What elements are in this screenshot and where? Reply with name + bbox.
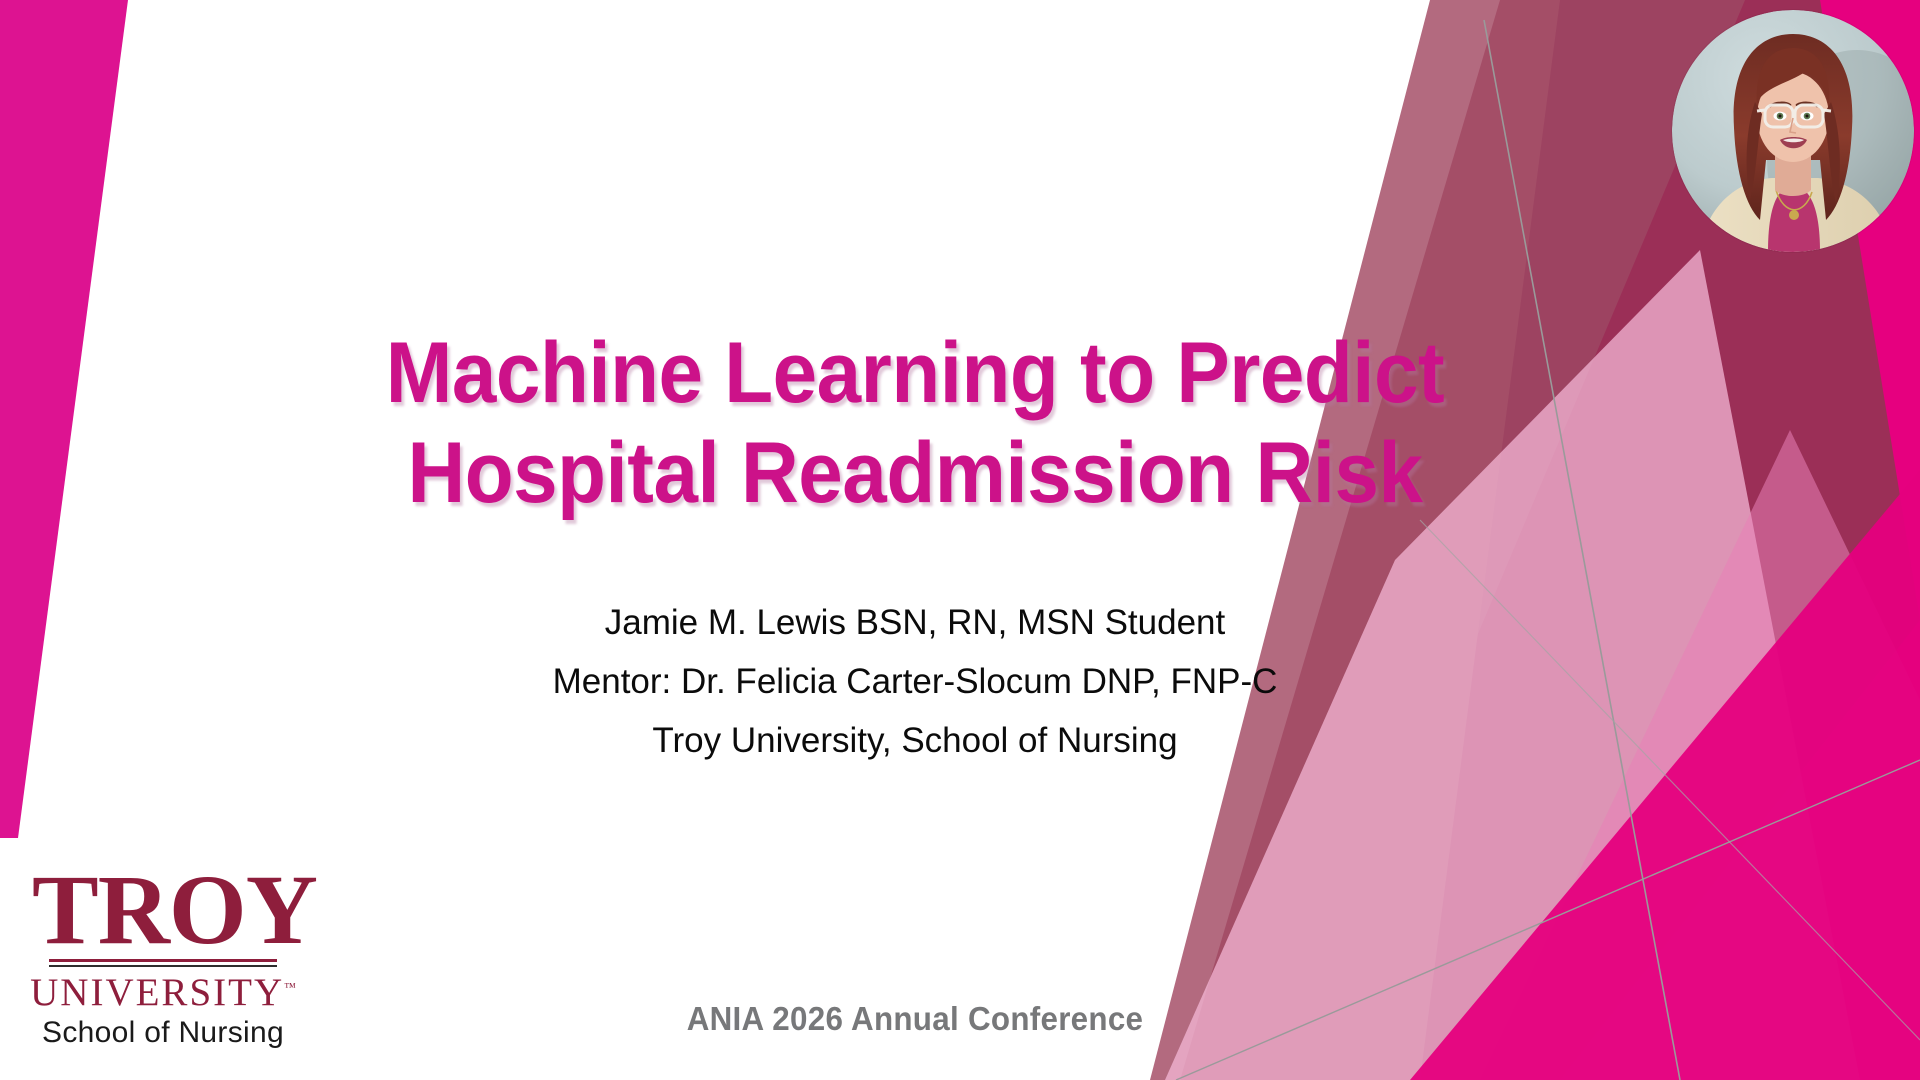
pupil-right bbox=[1806, 115, 1809, 118]
trademark-symbol: ™ bbox=[284, 980, 296, 994]
conference-footer: ANIA 2026 Annual Conference bbox=[236, 1000, 1595, 1038]
troy-university-logo: TROY UNIVERSITY™ School of Nursing bbox=[28, 862, 298, 1047]
troy-logo-wordmark: TROY bbox=[28, 862, 298, 957]
title-line-1: Machine Learning to Predict bbox=[250, 330, 1580, 416]
troy-logo-department: School of Nursing bbox=[28, 1016, 298, 1050]
troy-logo-university: UNIVERSITY™ bbox=[28, 970, 298, 1015]
necklace-pendant bbox=[1789, 210, 1799, 220]
pupil-left bbox=[1779, 115, 1782, 118]
author-block: Jamie M. Lewis BSN, RN, MSN Student Ment… bbox=[200, 605, 1630, 782]
hairline-diagonal-1 bbox=[1484, 20, 1680, 1080]
mentor-line: Mentor: Dr. Felicia Carter-Slocum DNP, F… bbox=[200, 664, 1630, 699]
title-slide: Machine Learning to Predict Hospital Rea… bbox=[0, 0, 1920, 1080]
presenter-webcam-bubble[interactable] bbox=[1672, 10, 1914, 252]
author-name-line: Jamie M. Lewis BSN, RN, MSN Student bbox=[200, 605, 1630, 640]
webcam-content bbox=[1672, 10, 1914, 252]
troy-logo-university-text: UNIVERSITY bbox=[30, 971, 284, 1014]
affiliation-line: Troy University, School of Nursing bbox=[200, 723, 1630, 758]
page-title: Machine Learning to Predict Hospital Rea… bbox=[200, 330, 1630, 530]
maroon-light-slab bbox=[1150, 0, 1560, 1080]
title-line-2: Hospital Readmission Risk bbox=[250, 430, 1580, 516]
left-magenta-wedge bbox=[0, 0, 128, 838]
webcam-video-frame bbox=[1672, 10, 1914, 252]
